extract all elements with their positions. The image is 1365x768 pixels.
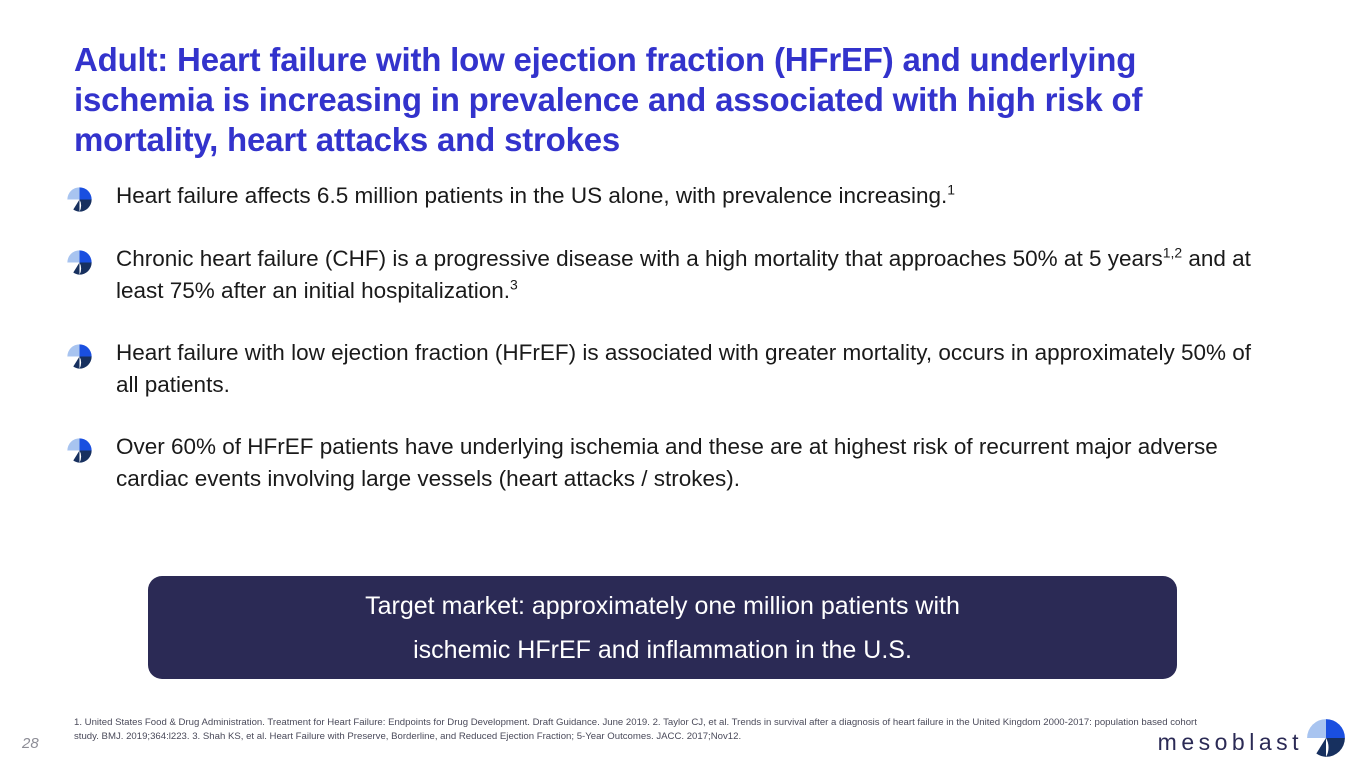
list-item-text: Heart failure affects 6.5 million patien…	[116, 180, 1256, 212]
list-item-text: Over 60% of HFrEF patients have underlyi…	[116, 431, 1256, 495]
mesoblast-quadrant-bullet-icon	[66, 186, 93, 213]
list-item: Heart failure affects 6.5 million patien…	[66, 180, 1256, 213]
list-item-text: Heart failure with low ejection fraction…	[116, 337, 1256, 401]
mesoblast-quadrant-bullet-icon	[66, 437, 93, 464]
list-item-text: Chronic heart failure (CHF) is a progres…	[116, 243, 1256, 307]
slide-28: Adult: Heart failure with low ejection f…	[0, 0, 1365, 768]
list-item: Chronic heart failure (CHF) is a progres…	[66, 243, 1256, 307]
logo-wordmark: mesoblast	[1158, 731, 1303, 754]
callout-text: Target market: approximately one million…	[325, 584, 1000, 672]
callout-line-2: ischemic HFrEF and inflammation in the U…	[413, 636, 912, 664]
mesoblast-quadrant-bullet-icon	[66, 343, 93, 370]
callout-line-1: Target market: approximately one million…	[365, 592, 960, 620]
list-item: Over 60% of HFrEF patients have underlyi…	[66, 431, 1256, 495]
bullet-list: Heart failure affects 6.5 million patien…	[66, 180, 1256, 525]
footnote-references: 1. United States Food & Drug Administrat…	[74, 716, 1214, 744]
mesoblast-quadrant-logo-icon	[1305, 717, 1347, 759]
mesoblast-logo: mesoblast	[1158, 717, 1347, 754]
page-number: 28	[22, 735, 39, 752]
page-title: Adult: Heart failure with low ejection f…	[74, 40, 1264, 160]
target-market-callout: Target market: approximately one million…	[148, 576, 1177, 679]
mesoblast-quadrant-bullet-icon	[66, 249, 93, 276]
list-item: Heart failure with low ejection fraction…	[66, 337, 1256, 401]
